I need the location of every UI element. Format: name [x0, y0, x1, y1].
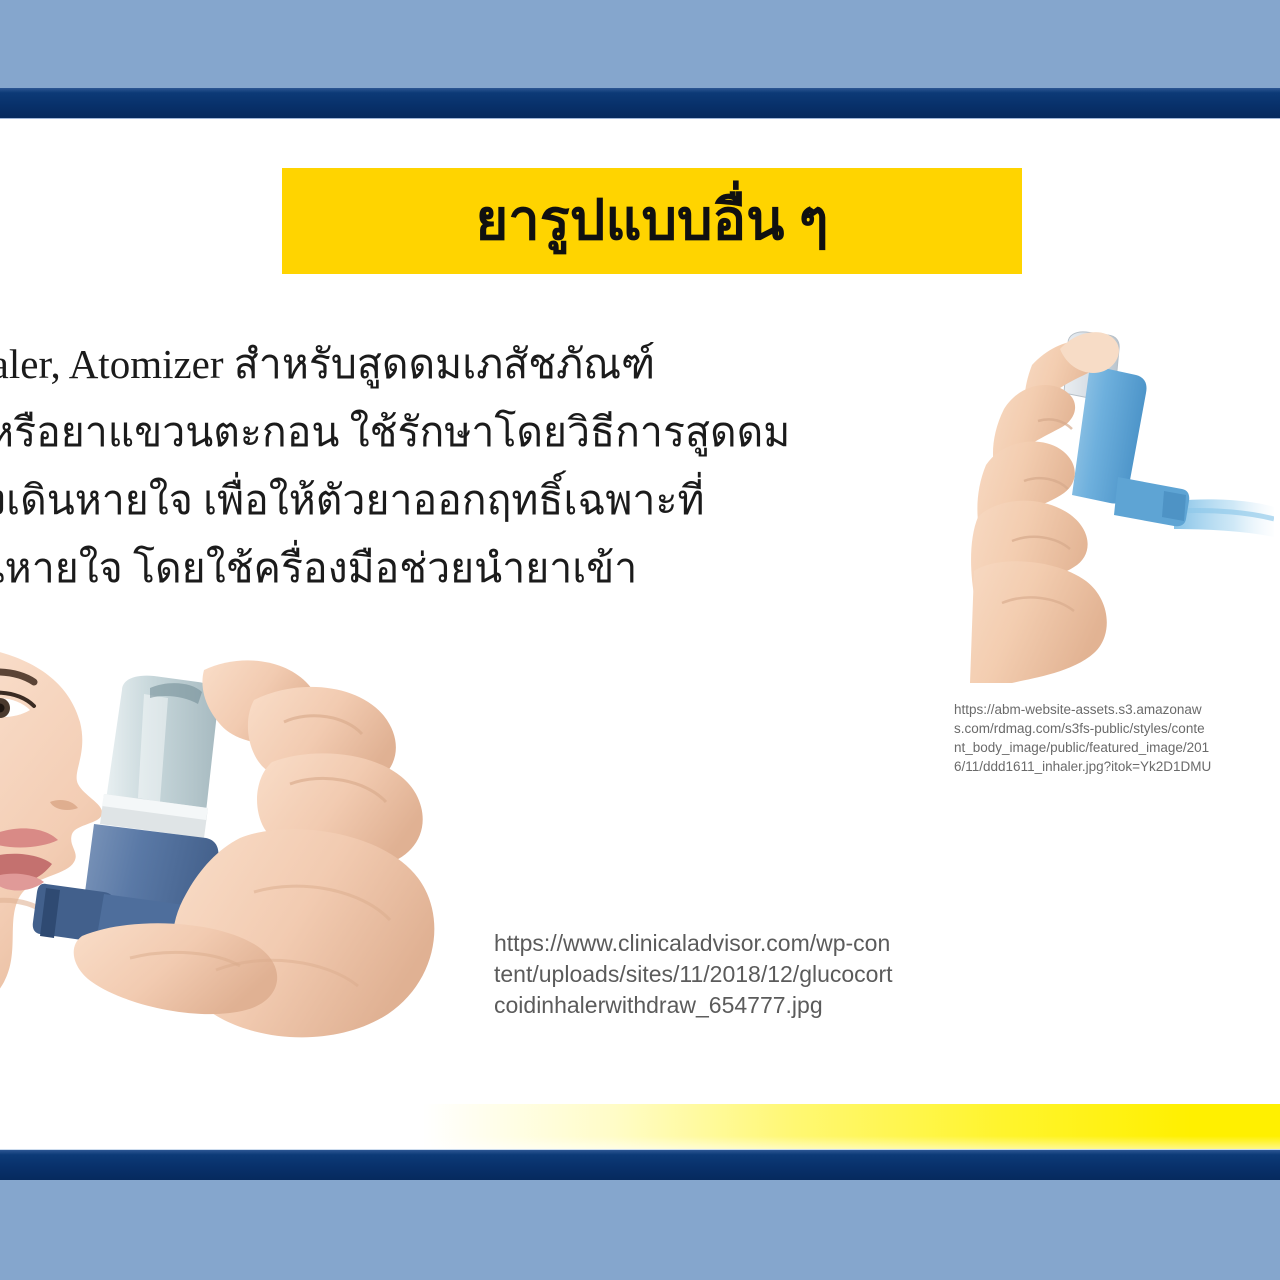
image-woman-inhaler — [0, 652, 454, 1044]
bottom-navy-band — [0, 1150, 1280, 1180]
citation-hand-inhaler: https://abm-website-assets.s3.amazonaws.… — [954, 700, 1212, 776]
bottom-yellow-accent-band — [0, 1104, 1280, 1150]
body-line-3: ทางเดินหายใจ เพื่อให้ตัวยาออกฤทธิ์เฉพาะท… — [0, 466, 796, 534]
citation-woman-inhaler: https://www.clinicaladvisor.com/wp-conte… — [494, 928, 894, 1021]
slide-canvas: ยารูปแบบอื่น ๆ Inhaler, Atomizer สำหรับส… — [0, 0, 1280, 1280]
woman-inhaler-illustration — [0, 652, 454, 1044]
body-paragraph: Inhaler, Atomizer สำหรับสูดดมเภสัชภัณฑ์ … — [0, 330, 796, 602]
body-line-1: Inhaler, Atomizer สำหรับสูดดมเภสัชภัณฑ์ — [0, 330, 796, 398]
page-title: ยารูปแบบอื่น ๆ — [475, 193, 828, 249]
body-line-2: น้ำหรือยาแขวนตะกอน ใช้รักษาโดยวิธีการสูด… — [0, 398, 796, 466]
hand-inhaler-illustration — [968, 305, 1274, 683]
top-light-blue-band — [0, 0, 1280, 90]
title-banner: ยารูปแบบอื่น ๆ — [282, 168, 1022, 274]
image-hand-inhaler — [968, 305, 1274, 683]
top-navy-band — [0, 88, 1280, 118]
body-line-4: เดินหายใจ โดยใช้ครื่องมือช่วยนำยาเข้า — [0, 534, 796, 602]
bottom-light-blue-band — [0, 1180, 1280, 1280]
